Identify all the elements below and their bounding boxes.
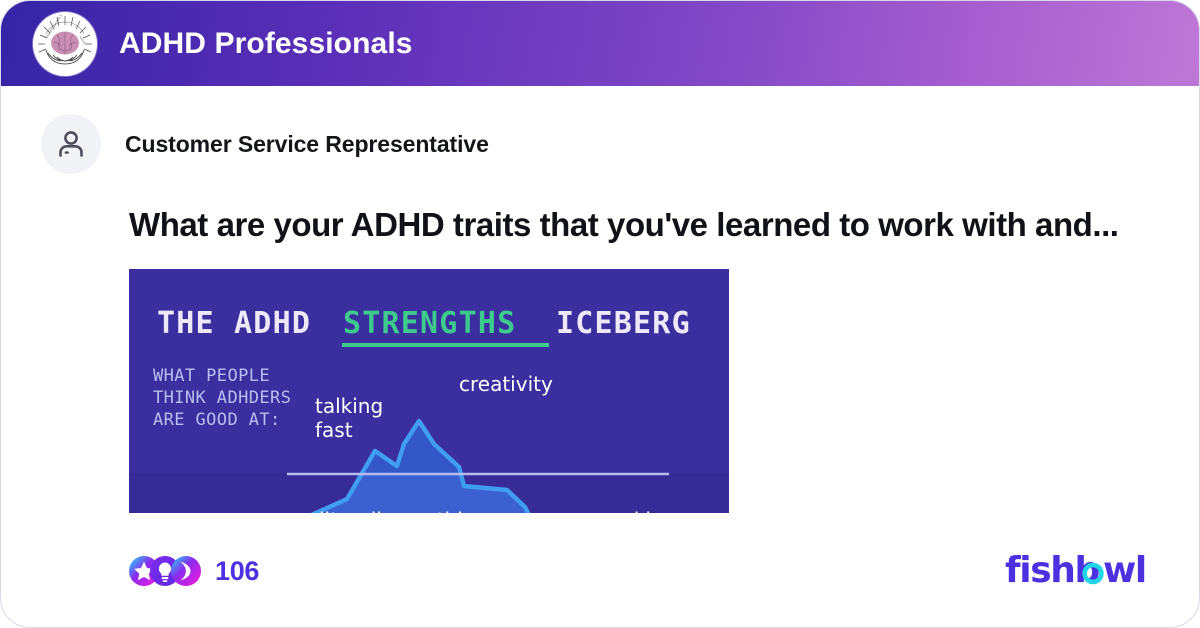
post-title[interactable]: What are your ADHD traits that you've le… bbox=[1, 206, 1199, 245]
card-footer: 106 fishb wl bbox=[1, 549, 1199, 593]
author-row[interactable]: Customer Service Representative bbox=[1, 114, 1199, 174]
infographic-heading-part2: ICEBERG bbox=[556, 306, 691, 341]
card-header: PROFESSIONALS ADHD ADHD Professionals bbox=[1, 1, 1199, 86]
fishbowl-wordmark-icon: fishb wl bbox=[1005, 550, 1155, 592]
brain-in-hands-logo-icon: PROFESSIONALS ADHD bbox=[33, 12, 97, 76]
note-working: working bbox=[597, 508, 676, 513]
reactions-group[interactable]: 106 bbox=[129, 556, 259, 587]
post-image[interactable]: THE ADHD STRENGTHS ICEBERG bbox=[129, 269, 729, 513]
brand-logo: PROFESSIONALS ADHD bbox=[33, 12, 97, 76]
reaction-count: 106 bbox=[215, 556, 259, 587]
adhd-strengths-iceberg-infographic: THE ADHD STRENGTHS ICEBERG bbox=[129, 269, 729, 513]
note-talking-line1: talking bbox=[315, 394, 383, 418]
brand-title: ADHD Professionals bbox=[119, 27, 413, 61]
infographic-heading-part1: THE ADHD bbox=[157, 306, 311, 341]
avatar bbox=[41, 114, 101, 174]
helpful-reaction-icon bbox=[171, 556, 201, 586]
label-above-line1: WHAT PEOPLE bbox=[153, 366, 270, 386]
label-above-line2: THINK ADHDERS bbox=[153, 388, 291, 408]
person-avatar-icon bbox=[53, 126, 89, 162]
reaction-badges[interactable] bbox=[129, 556, 201, 586]
note-creativity: creativity bbox=[459, 372, 553, 396]
card-body: Customer Service Representative What are… bbox=[1, 114, 1199, 513]
svg-text:wl: wl bbox=[1103, 550, 1146, 591]
infographic-heading-highlight: STRENGTHS bbox=[343, 306, 516, 341]
note-talking-line2: fast bbox=[315, 418, 353, 442]
post-card: PROFESSIONALS ADHD ADHD Professionals Cu… bbox=[0, 0, 1200, 628]
label-above-line3: ARE GOOD AT: bbox=[153, 410, 281, 430]
fishbowl-logo: fishb wl bbox=[1005, 550, 1155, 592]
heading-underline bbox=[342, 343, 549, 347]
author-name: Customer Service Representative bbox=[125, 131, 489, 158]
note-anything: literally anything bbox=[319, 508, 488, 513]
helpful-reaction-badge[interactable] bbox=[171, 556, 201, 586]
label-below: WHAT ADHDERS bbox=[153, 512, 281, 513]
